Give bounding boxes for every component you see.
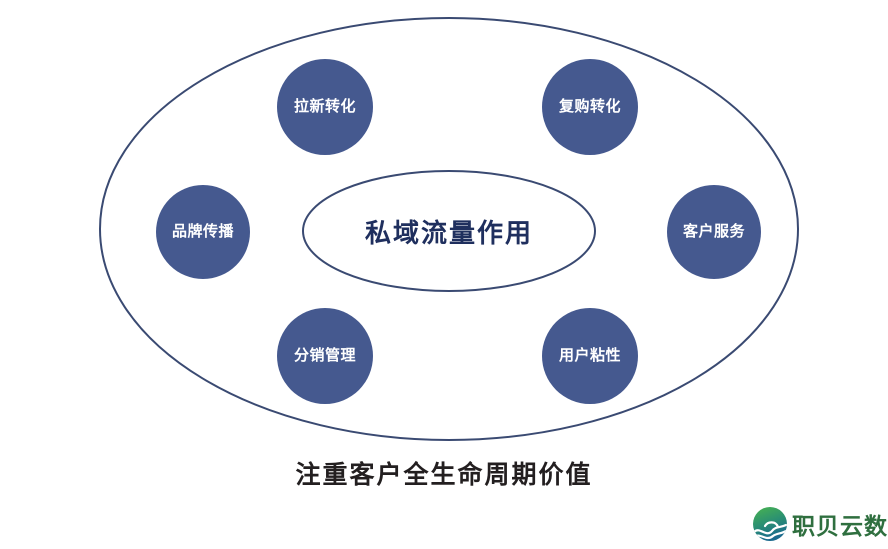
slide-canvas: 私域流量作用 拉新转化 复购转化 品牌传播 客户服务 分销管理 用户粘性 注重客… (0, 0, 888, 549)
node-label-top-left: 拉新转化 (294, 98, 356, 116)
node-circle-bottom-right[interactable]: 用户粘性 (542, 308, 638, 404)
node-label-middle-left: 品牌传播 (172, 223, 234, 241)
node-circle-middle-left[interactable]: 品牌传播 (156, 185, 250, 279)
watermark-text: 职贝云数 (792, 507, 888, 541)
watermark: 职贝云数 (752, 506, 888, 542)
node-label-top-right: 复购转化 (559, 98, 621, 116)
node-label-bottom-right: 用户粘性 (559, 347, 621, 365)
node-circle-top-right[interactable]: 复购转化 (542, 59, 638, 155)
node-circle-middle-right[interactable]: 客户服务 (667, 185, 761, 279)
node-label-bottom-left: 分销管理 (294, 347, 356, 365)
slide-caption: 注重客户全生命周期价值 (0, 455, 888, 491)
node-circle-bottom-left[interactable]: 分销管理 (277, 308, 373, 404)
node-circle-top-left[interactable]: 拉新转化 (277, 59, 373, 155)
wave-circle-logo-icon (752, 506, 788, 542)
node-label-middle-right: 客户服务 (683, 223, 745, 241)
center-ellipse-label: 私域流量作用 (303, 201, 595, 261)
